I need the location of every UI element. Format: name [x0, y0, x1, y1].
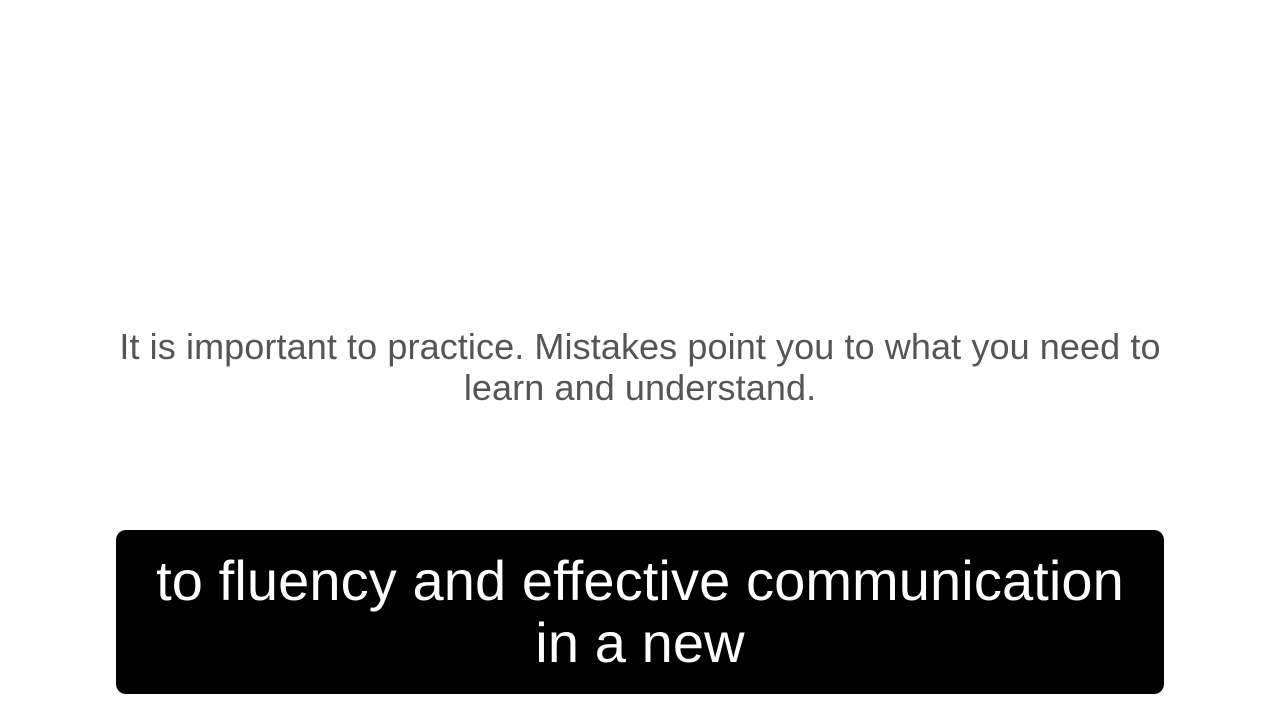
- slide-canvas: It is important to practice. Mistakes po…: [0, 0, 1280, 720]
- caption-text: to fluency and effective communication i…: [116, 550, 1164, 674]
- caption-bar: to fluency and effective communication i…: [116, 530, 1164, 694]
- narration-text: It is important to practice. Mistakes po…: [96, 326, 1184, 408]
